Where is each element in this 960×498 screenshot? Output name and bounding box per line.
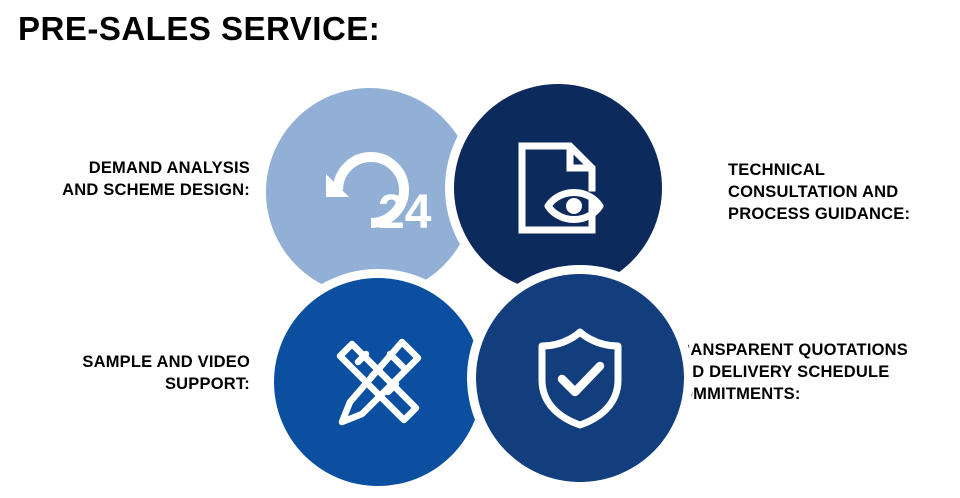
label-line: COMMITMENTS: [668, 384, 960, 406]
label-line: PROCESS GUIDANCE: [728, 204, 954, 226]
label-line: CONSULTATION AND [728, 182, 954, 204]
document-eye-icon [504, 134, 612, 242]
node-demand-analysis[interactable]: 24 [266, 88, 474, 296]
label-line: TECHNICAL [728, 160, 954, 182]
circle-cluster: 24 [258, 80, 678, 490]
label-line: SAMPLE AND VIDEO [10, 352, 250, 374]
hours-badge-text: 24 [378, 186, 432, 239]
node-technical-consultation[interactable] [454, 84, 662, 292]
label-demand-analysis: DEMAND ANALYSIS AND SCHEME DESIGN: [10, 158, 250, 202]
label-transparent-quotations: TRANSPARENT QUOTATIONS AND DELIVERY SCHE… [668, 340, 960, 406]
label-line: TRANSPARENT QUOTATIONS [668, 340, 960, 362]
label-line: AND DELIVERY SCHEDULE [668, 362, 960, 384]
label-line: DEMAND ANALYSIS [10, 158, 250, 180]
infographic-canvas: PRE-SALES SERVICE: DEMAND ANALYSIS AND S… [0, 0, 960, 498]
page-title: PRE-SALES SERVICE: [18, 10, 380, 48]
pencil-ruler-icon [324, 328, 432, 436]
shield-check-icon [526, 324, 634, 432]
rotate-24-hours-icon: 24 [316, 138, 424, 246]
label-line: SUPPORT: [10, 374, 250, 396]
label-sample-video-support: SAMPLE AND VIDEO SUPPORT: [10, 352, 250, 396]
node-transparent-quotations[interactable] [476, 274, 684, 482]
label-technical-consultation: TECHNICAL CONSULTATION AND PROCESS GUIDA… [728, 160, 954, 226]
node-sample-video-support[interactable] [274, 278, 482, 486]
label-line: AND SCHEME DESIGN: [10, 180, 250, 202]
